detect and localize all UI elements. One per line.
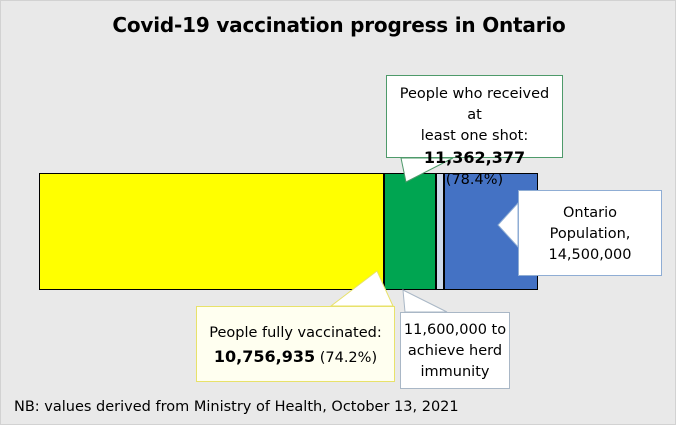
source-footnote: NB: values derived from Ministry of Heal… (14, 399, 459, 415)
callout-fully-vaccinated[interactable]: People fully vaccinated: 10,756,935 (74.… (196, 306, 395, 382)
callout-fully-label: People fully vaccinated: (197, 322, 394, 345)
callout-one-dose-value-row: 11,362,377 (78.4%) (393, 147, 556, 191)
callout-herd-line-1: 11,600,000 to (401, 320, 509, 341)
callout-one-dose-percent: (78.4%) (446, 172, 503, 188)
callout-one-dose-label-line-1: People who received at (393, 84, 556, 126)
page-title-line-2: Ontario (482, 13, 565, 37)
bar-segment-fully-vaccinated (39, 173, 384, 290)
callout-tail-herd-immunity (403, 290, 447, 312)
callout-population-value: 14,500,000 (519, 245, 661, 266)
callout-one-dose[interactable]: People who received at least one shot: 1… (386, 75, 563, 158)
callout-herd-immunity[interactable]: 11,600,000 to achieve herd immunity (400, 312, 510, 389)
callout-population-label-line-1: Ontario (519, 203, 661, 224)
callout-herd-line-2: achieve herd (401, 341, 509, 362)
callout-one-dose-value: 11,362,377 (424, 148, 525, 167)
callout-ontario-population[interactable]: Ontario Population, 14,500,000 (518, 190, 662, 276)
callout-fully-percent: (74.2%) (320, 350, 377, 366)
callout-fully-value-row: 10,756,935 (74.2%) (197, 345, 394, 370)
chart-canvas: Covid-19 vaccination progress in Ontario… (0, 0, 676, 425)
callout-population-label-line-2: Population, (519, 224, 661, 245)
callout-herd-line-3: immunity (401, 362, 509, 383)
page-title-line-1: Covid-19 vaccination progress in (112, 13, 475, 37)
callout-fully-value: 10,756,935 (214, 347, 315, 366)
callout-one-dose-label-line-2: least one shot: (393, 126, 556, 147)
page-title: Covid-19 vaccination progress in Ontario (89, 13, 589, 38)
